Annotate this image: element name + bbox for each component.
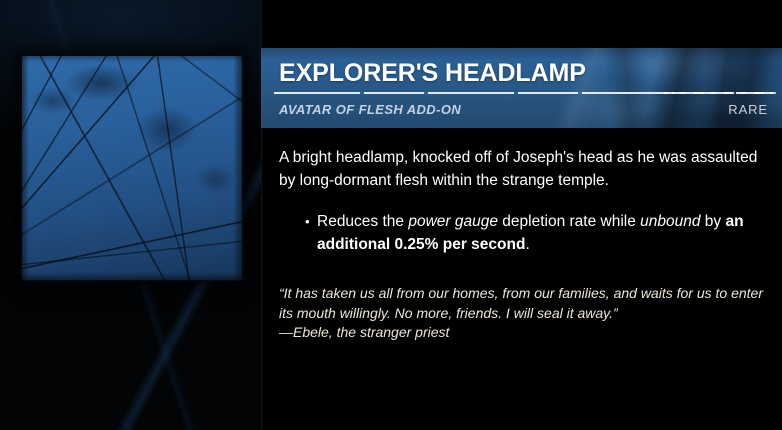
blue-scratched-slab-icon — [22, 56, 242, 280]
item-category: AVATAR OF FLESH ADD-ON — [279, 101, 461, 119]
effect-suffix-lead: by — [700, 213, 725, 230]
item-detail-panel: EXPLORER'S HEADLAMP AVATAR OF FLESH ADD-… — [261, 0, 782, 430]
item-flavor-text: “It has taken us all from our homes, fro… — [279, 284, 763, 323]
item-icon — [4, 34, 254, 306]
effect-suffix-end: . — [525, 236, 529, 253]
title-divider-fade — [664, 92, 782, 94]
rarity-badge: RARE — [728, 101, 768, 119]
item-description: A bright headlamp, knocked off of Joseph… — [279, 146, 763, 192]
item-flavor-attribution: —Ebele, the stranger priest — [279, 323, 763, 343]
item-effect-row: Reduces the power gauge depletion rate w… — [279, 210, 763, 256]
effect-emphasis-unbound: unbound — [640, 213, 700, 230]
item-effects-list: Reduces the power gauge depletion rate w… — [279, 210, 763, 256]
item-icon-shadow — [12, 48, 246, 292]
effect-prefix: Reduces the — [317, 213, 408, 230]
item-tooltip: EXPLORER'S HEADLAMP AVATAR OF FLESH ADD-… — [0, 0, 782, 430]
item-title: EXPLORER'S HEADLAMP — [279, 58, 586, 88]
effect-emphasis-power-gauge: power gauge — [408, 213, 498, 230]
effect-middle: depletion rate while — [498, 213, 640, 230]
item-header-band: EXPLORER'S HEADLAMP AVATAR OF FLESH ADD-… — [261, 48, 782, 128]
